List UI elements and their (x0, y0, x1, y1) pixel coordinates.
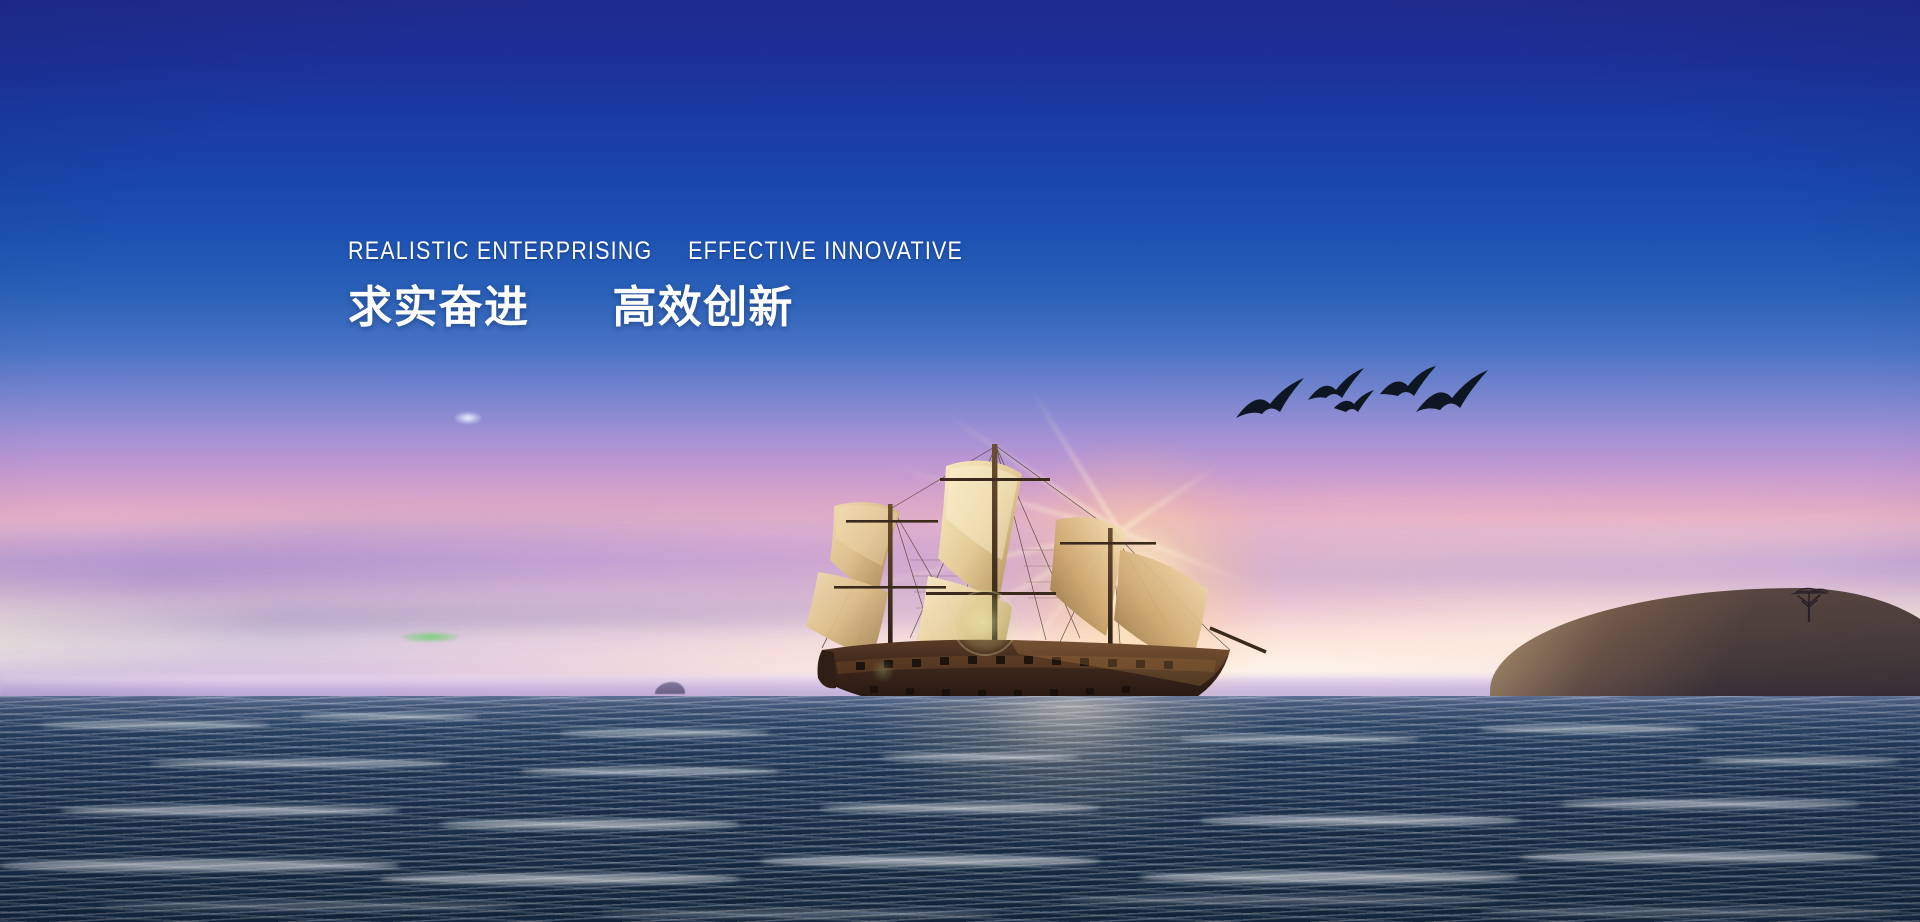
hero-banner: REALISTIC ENTERPRISING EFFECTIVE INNOVAT… (0, 0, 1920, 922)
lone-tree-icon (1776, 582, 1842, 622)
headland (1490, 576, 1920, 706)
sailing-ship (760, 400, 1280, 720)
lens-flare-green (402, 632, 458, 642)
flying-birds (1230, 360, 1490, 440)
sun-reflection-path (860, 696, 1280, 846)
headland-rim-light (1490, 588, 1920, 706)
lens-flare-white (455, 412, 481, 424)
sea (0, 696, 1920, 922)
